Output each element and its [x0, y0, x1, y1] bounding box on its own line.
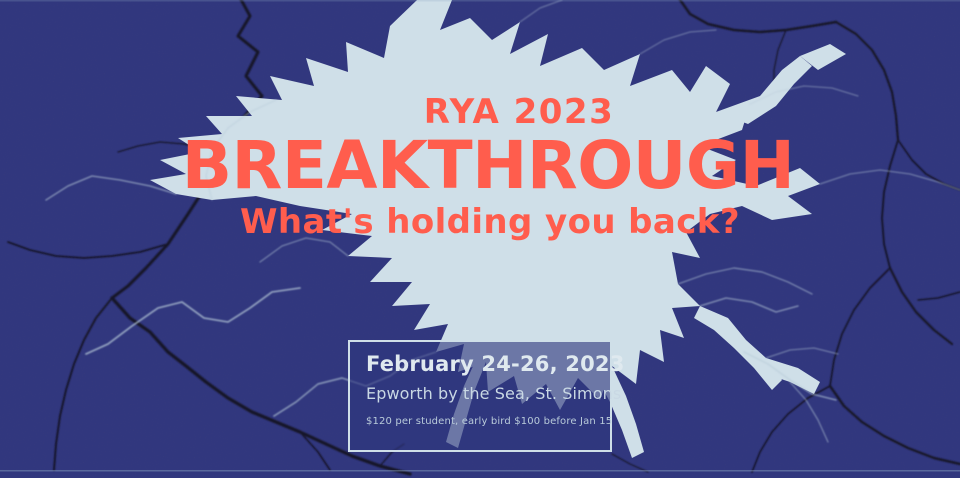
event-poster: RYA 2023 BREAKTHROUGH What's holding you… [0, 0, 960, 478]
event-details-box: February 24-26, 2023 Epworth by the Sea,… [348, 340, 612, 452]
top-divider [0, 0, 960, 2]
event-date: February 24-26, 2023 [366, 353, 594, 376]
bottom-divider [0, 470, 960, 472]
event-price: $120 per student, early bird $100 before… [366, 416, 594, 427]
event-venue: Epworth by the Sea, St. Simons [366, 385, 594, 403]
